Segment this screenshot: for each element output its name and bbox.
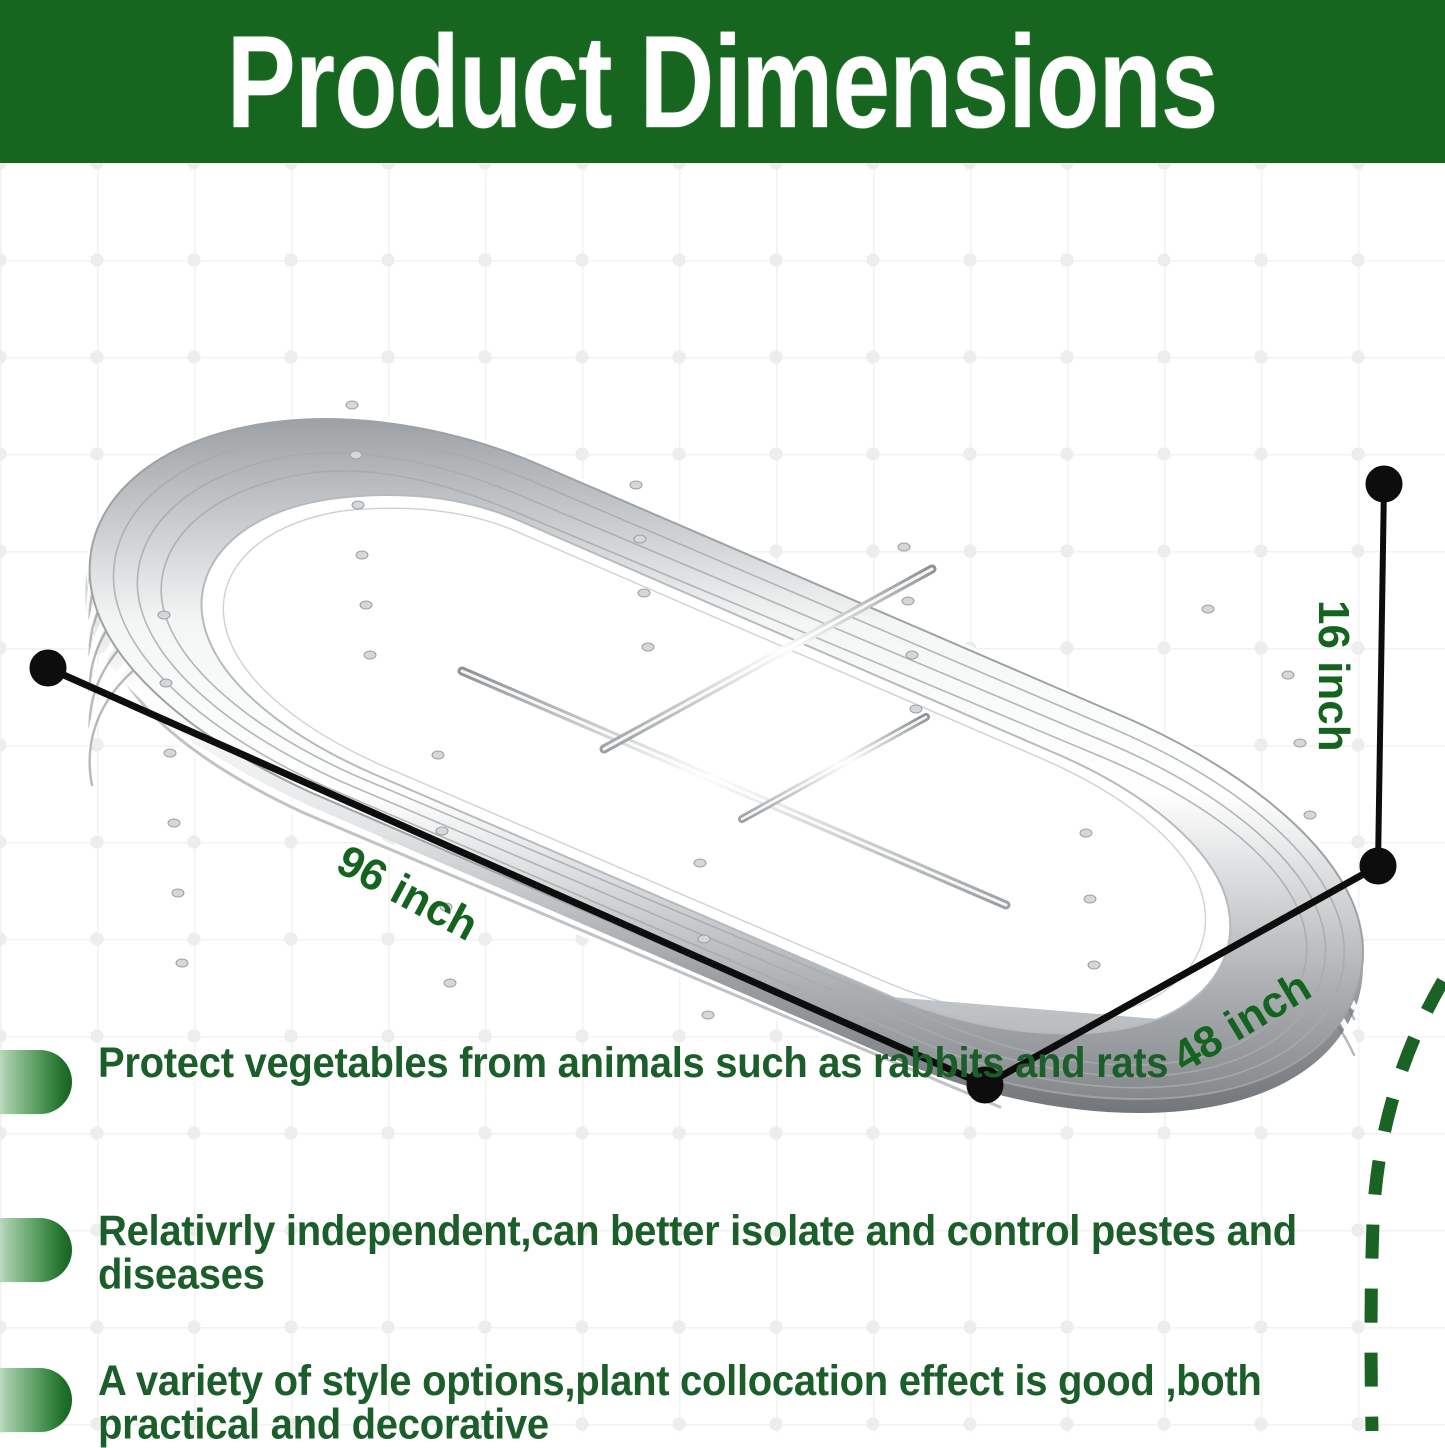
- feature-text: A variety of style options,plant colloca…: [98, 1360, 1388, 1446]
- list-item: Protect vegetables from animals such as …: [0, 1042, 1168, 1114]
- page-title: Product Dimensions: [227, 16, 1218, 148]
- dimension-line-height: [1378, 484, 1384, 866]
- header-banner: Product Dimensions: [0, 0, 1445, 163]
- list-item: A variety of style options,plant colloca…: [0, 1360, 1388, 1442]
- dimension-label-height: 16 inch: [1308, 600, 1358, 752]
- list-item: Relativrly independent,can better isolat…: [0, 1210, 1388, 1292]
- bullet-pill-icon: [0, 1050, 72, 1114]
- bed-geometry: [85, 401, 1363, 1113]
- feature-text: Protect vegetables from animals such as …: [98, 1042, 1168, 1085]
- dimension-endpoint-height-top: [1369, 469, 1399, 499]
- feature-text: Relativrly independent,can better isolat…: [98, 1210, 1388, 1296]
- dimension-endpoint-length: [33, 653, 63, 683]
- bullet-pill-icon: [0, 1218, 72, 1282]
- bullet-pill-icon: [0, 1368, 72, 1432]
